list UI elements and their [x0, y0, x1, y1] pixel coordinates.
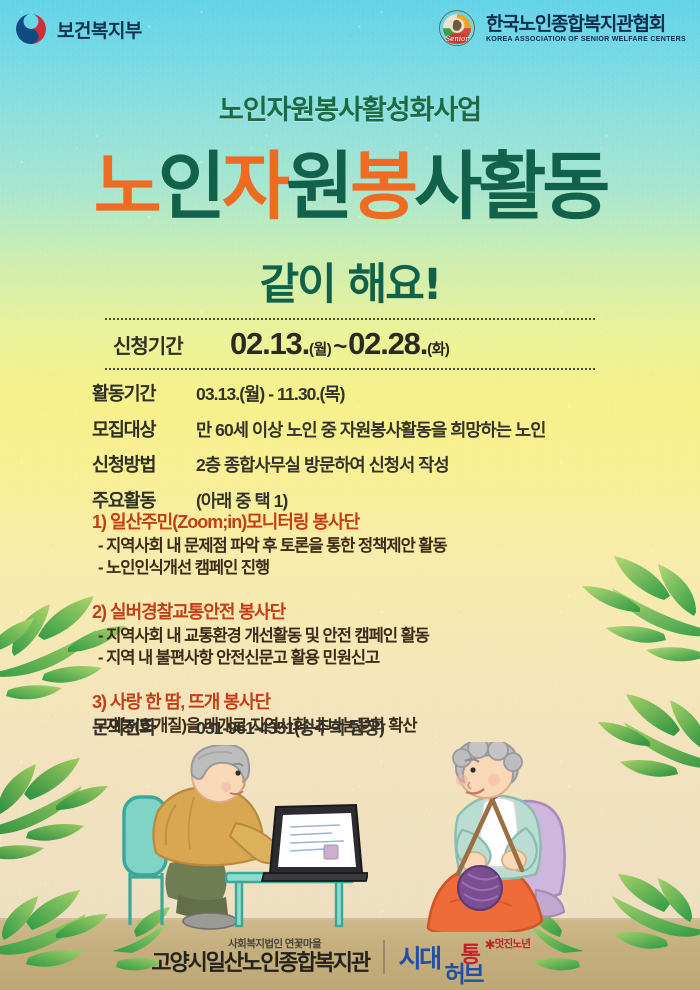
activity-title: 3) 사랑 한 땀, 뜨개 봉사단 — [92, 688, 667, 714]
association-name-en-label: KOREA ASSOCIATION OF SENIOR WELFARE CENT… — [486, 35, 686, 43]
sidae-tong-hub-logo: 시대 통 허브 ✱ 멋진노년 — [399, 936, 549, 978]
footer-logos: 사회복지법인 연꽃마을 고양시일산노인종합복지관 시대 통 허브 ✱ 멋진노년 — [0, 936, 700, 978]
brand-tagline-label: 멋진노년 — [495, 936, 530, 951]
activity-spacer — [92, 586, 667, 598]
activity-detail-line: - 지역 내 불편사항 안전신문고 활용 민원신고 — [92, 647, 667, 669]
info-rows-list: 활동기간 03.13.(월) - 11.30.(목) 모집대상 만 60세 이상… — [92, 380, 652, 522]
activity-title: 2) 실버경찰교통안전 봉사단 — [92, 598, 667, 624]
senior-seal-icon: Senior — [435, 8, 479, 50]
activity-item: 1) 일산주민(Zoom;in)모니터링 봉사단 - 지역사회 내 문제점 파악… — [92, 508, 667, 579]
brand-sidae-label: 시대 — [399, 939, 440, 975]
poster-tagline: 같이 해요! — [0, 250, 700, 312]
activity-detail-line: - 지역사회 내 교통환경 개선활동 및 안전 캠페인 활동 — [92, 625, 667, 647]
ministry-logo: 보건복지부 — [14, 12, 142, 46]
info-label: 모집대상 — [92, 416, 196, 442]
poster-main-title: 노인자원봉사활동 — [0, 150, 700, 224]
association-name-kr-label: 한국노인종합복지관협회 — [486, 15, 686, 35]
date-range-tilde: ~ — [331, 333, 348, 360]
footer-divider — [383, 940, 385, 974]
association-logo: Senior 한국노인종합복지관협회 KOREA ASSOCIATION OF … — [435, 8, 686, 50]
taegeuk-icon — [14, 12, 48, 46]
welfare-center-sub-label: 사회복지법인 연꽃마을 — [151, 939, 369, 950]
activity-title: 1) 일산주민(Zoom;in)모니터링 봉사단 — [92, 508, 667, 534]
activity-detail-line: - 노인인식개선 캠페인 진행 — [92, 557, 667, 579]
start-date: 02.13. — [230, 326, 309, 361]
poster-canvas: 보건복지부 Senior 한국노인종합복지관협회 KOREA ASSOCIATI… — [0, 0, 700, 990]
ministry-name-label: 보건복지부 — [57, 16, 142, 43]
activities-list: 1) 일산주민(Zoom;in)모니터링 봉사단 - 지역사회 내 문제점 파악… — [92, 508, 667, 745]
welfare-center-name-label: 고양시일산노인종합복지관 — [151, 951, 369, 975]
contact-phone-value: 031-961-4351(송주희 팀장) — [196, 715, 384, 740]
contact-phone-row: 문의전화 031-961-4351(송주희 팀장) — [92, 714, 652, 740]
poster-subtitle: 노인자원봉사활성화사업 — [0, 88, 700, 127]
activity-item: 2) 실버경찰교통안전 봉사단 - 지역사회 내 교통환경 개선활동 및 안전 … — [92, 598, 667, 669]
end-day: (화) — [427, 341, 449, 358]
start-day: (월) — [309, 341, 331, 358]
end-date: 02.28. — [348, 326, 427, 361]
info-value: 2층 종합사무실 방문하여 신청서 작성 — [196, 452, 449, 477]
application-period-strip: 신청기간 02.13.(월)~02.28.(화) — [105, 318, 595, 370]
brand-hub-label: 허브 — [445, 955, 483, 989]
info-label: 신청방법 — [92, 451, 196, 477]
info-value: 03.13.(월) - 11.30.(목) — [196, 381, 345, 406]
header-logos-bar: 보건복지부 Senior 한국노인종합복지관협회 KOREA ASSOCIATI… — [0, 0, 700, 58]
activity-detail-line: - 지역사회 내 문제점 파악 후 토론을 통한 정책제안 활동 — [92, 535, 667, 557]
info-label: 활동기간 — [92, 380, 196, 406]
application-period-value: 02.13.(월)~02.28.(화) — [230, 326, 449, 362]
contact-phone-label: 문의전화 — [92, 714, 196, 740]
info-row: 모집대상 만 60세 이상 노인 중 자원봉사활동을 희망하는 노인 — [92, 416, 652, 442]
info-row: 신청방법 2층 종합사무실 방문하여 신청서 작성 — [92, 451, 652, 477]
activity-spacer — [92, 676, 667, 688]
info-row: 활동기간 03.13.(월) - 11.30.(목) — [92, 380, 652, 406]
application-period-label: 신청기간 — [105, 330, 230, 359]
welfare-center-logo: 사회복지법인 연꽃마을 고양시일산노인종합복지관 — [151, 939, 369, 975]
svg-text:Senior: Senior — [445, 35, 469, 43]
info-value: 만 60세 이상 노인 중 자원봉사활동을 희망하는 노인 — [196, 417, 545, 442]
